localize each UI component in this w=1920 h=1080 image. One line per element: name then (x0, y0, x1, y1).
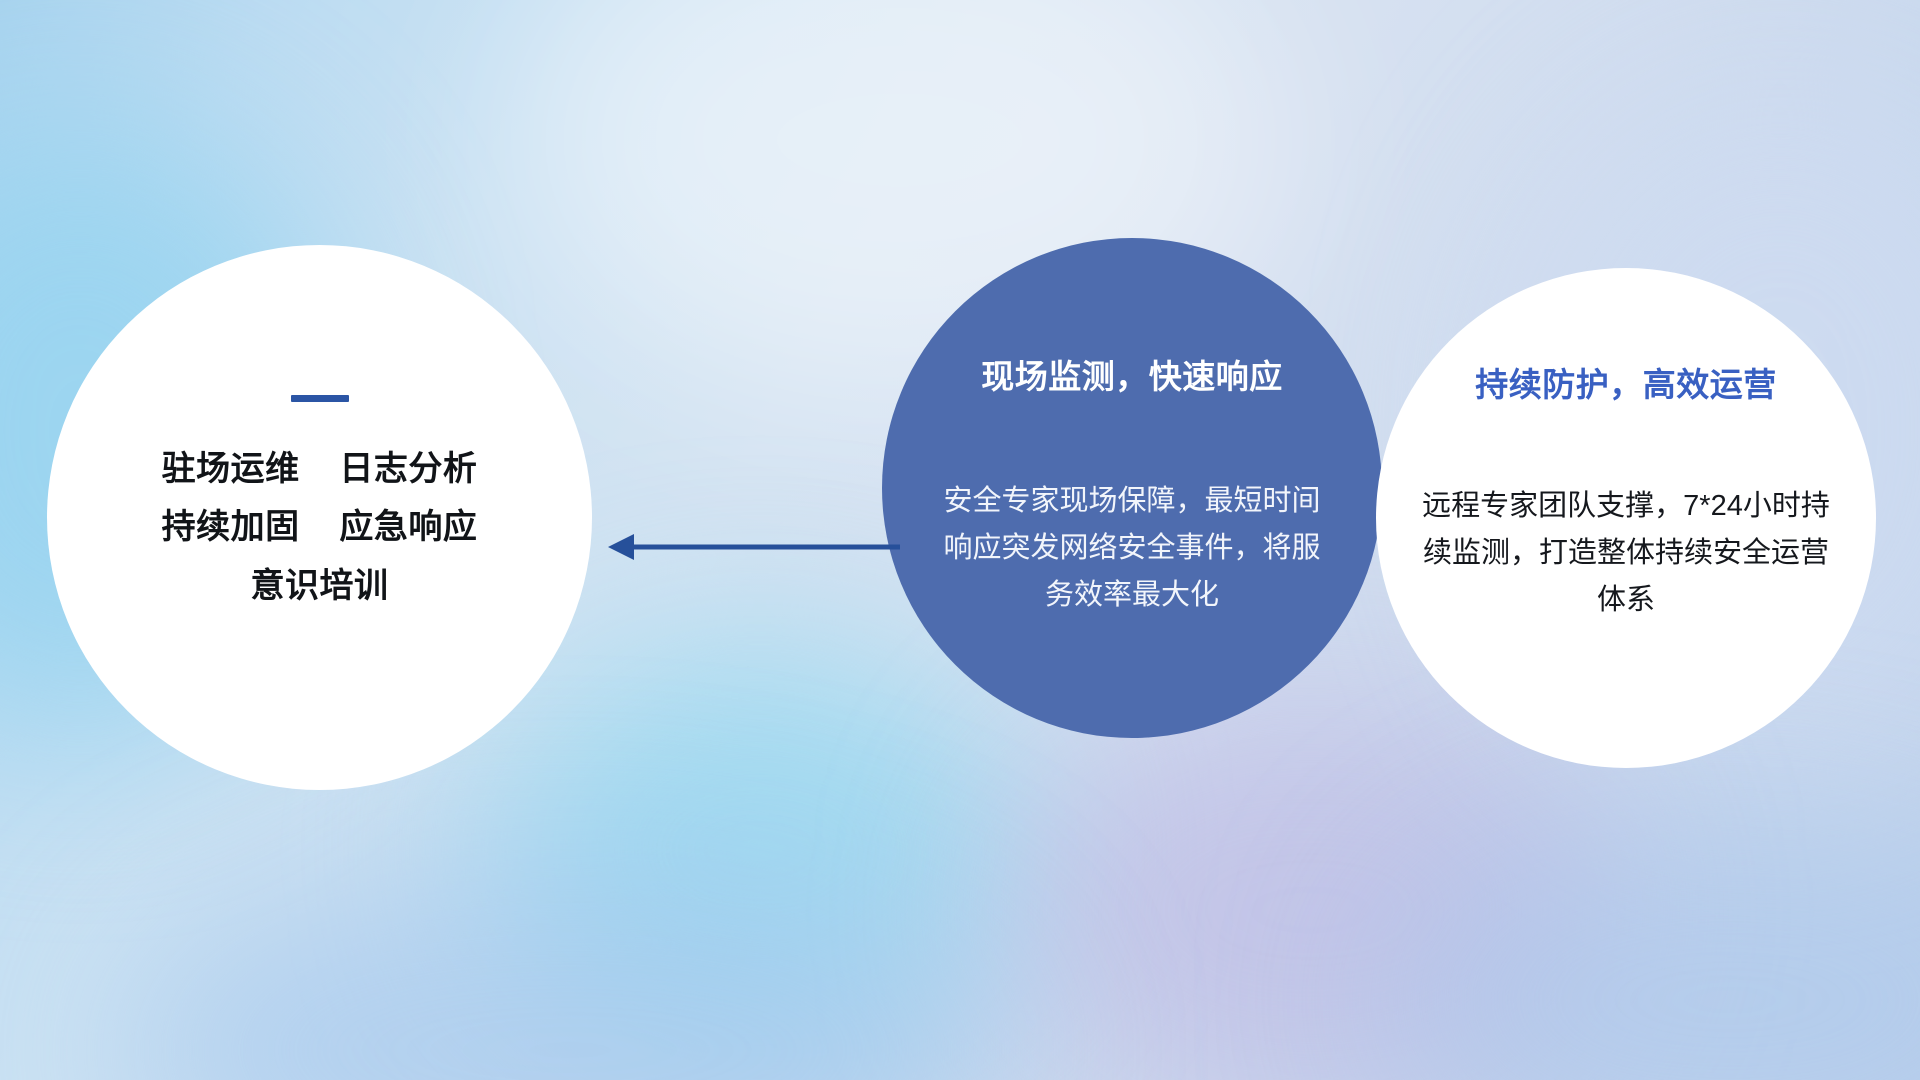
arrow-left-icon (604, 528, 904, 566)
capability-row: 驻场运维 日志分析 (162, 440, 478, 498)
capability-row: 持续加固 应急响应 (162, 498, 478, 556)
background-blob-bottom-right (1380, 820, 1920, 1080)
circle-description: 远程专家团队支撑，7*24小时持续监测，打造整体持续安全运营体系 (1416, 483, 1836, 624)
circle-service-capabilities: 驻场运维 日志分析 持续加固 应急响应 意识培训 (47, 245, 592, 790)
capability-row: 意识培训 (162, 557, 478, 615)
title-divider-dash (291, 395, 349, 402)
circle-continuous-protection: 持续防护，高效运营 远程专家团队支撑，7*24小时持续监测，打造整体持续安全运营… (1376, 268, 1876, 768)
background-blob-blue-bottom (120, 860, 1020, 1080)
circle-onsite-monitoring: 现场监测，快速响应 安全专家现场保障，最短时间响应突发网络安全事件，将服务效率最… (882, 238, 1382, 738)
circle-description: 安全专家现场保障，最短时间响应突发网络安全事件，将服务效率最大化 (938, 478, 1326, 619)
background-blob-lavender (1000, 700, 1620, 1080)
slide-canvas: 驻场运维 日志分析 持续加固 应急响应 意识培训 现场监测，快速响应 安全专家现… (0, 0, 1920, 1080)
circle-title: 现场监测，快速响应 (882, 350, 1382, 398)
capability-keyword-list: 驻场运维 日志分析 持续加固 应急响应 意识培训 (162, 440, 478, 615)
background-blob-cyan-mid (480, 640, 1040, 1060)
circle-title: 持续防护，高效运营 (1376, 358, 1876, 406)
